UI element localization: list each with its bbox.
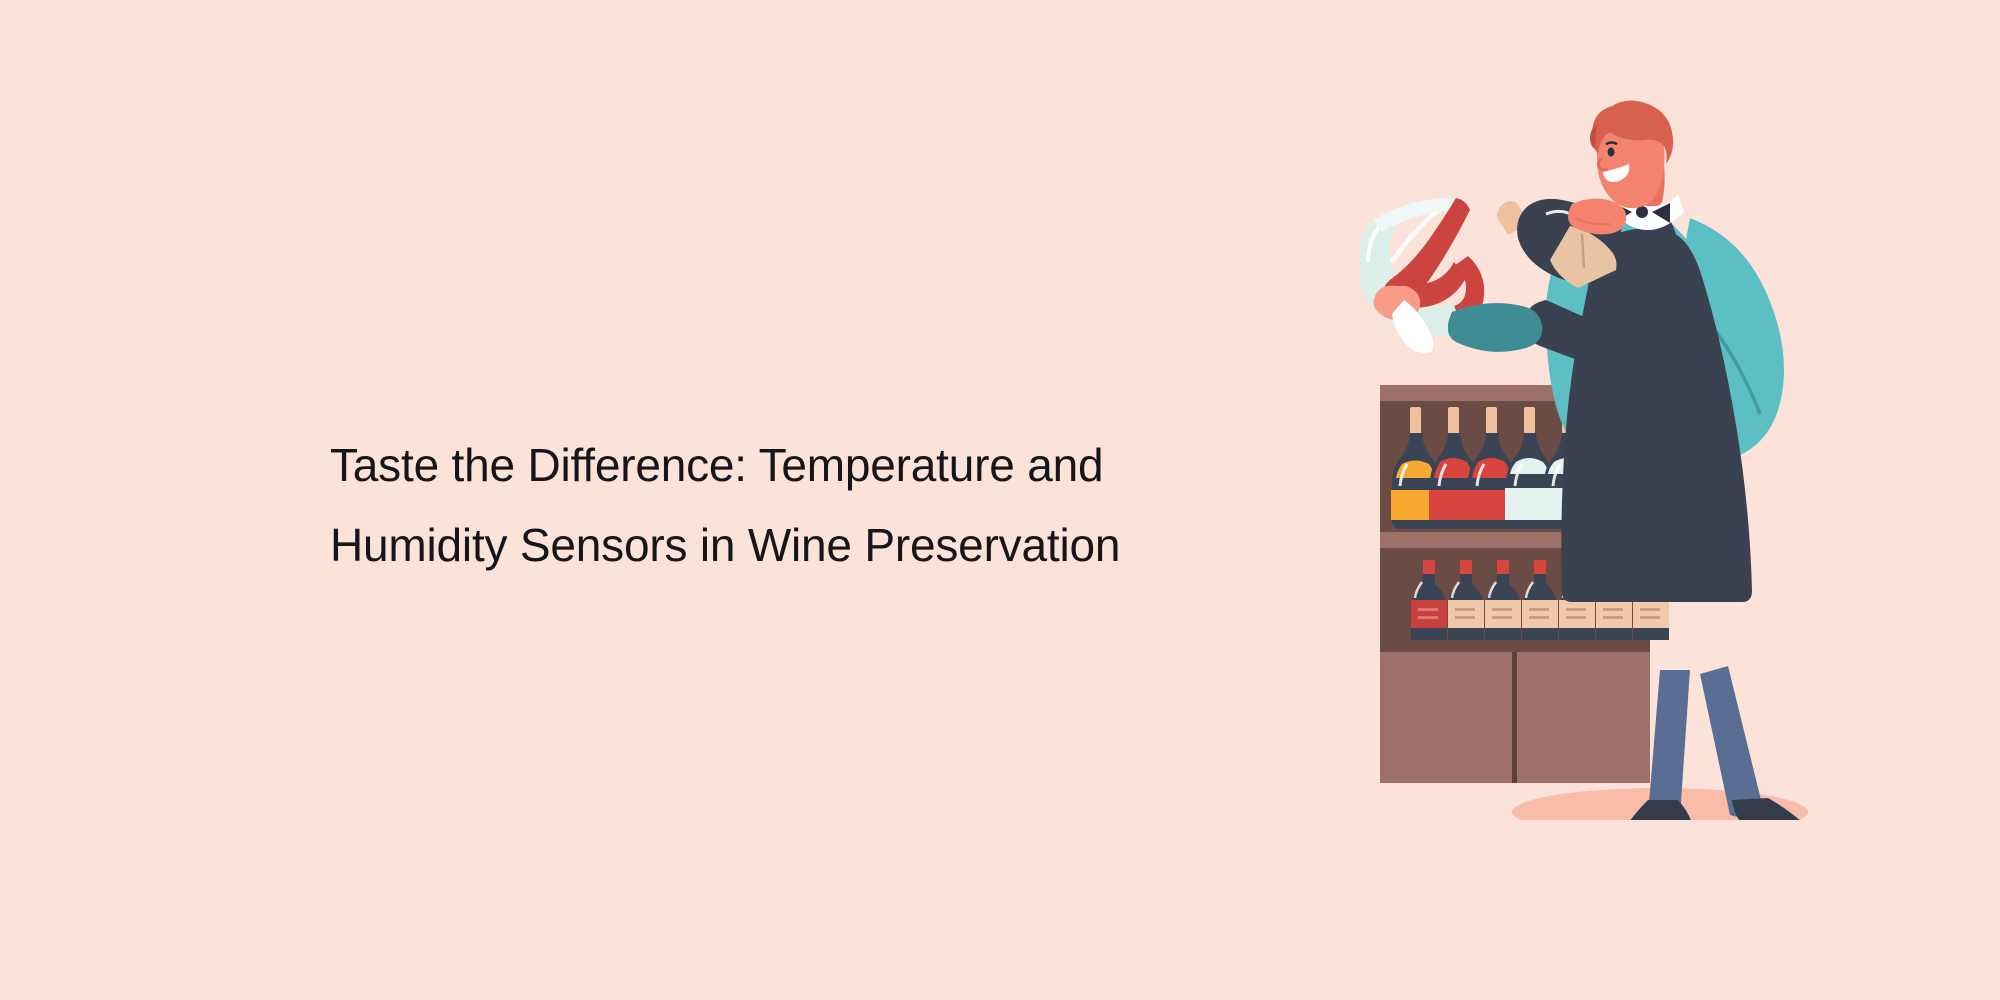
sommelier-illustration — [1360, 100, 1960, 820]
label-line — [1603, 608, 1623, 611]
bottle-cap — [1497, 560, 1509, 574]
bottle-label — [1411, 600, 1447, 628]
bottle-label — [1522, 600, 1558, 628]
label-line — [1640, 608, 1660, 611]
bottle-label — [1633, 600, 1669, 628]
label-line — [1492, 616, 1512, 619]
bottle-cap — [1460, 560, 1472, 574]
bow-tie-knot — [1636, 206, 1648, 218]
bottle-cork — [1524, 407, 1535, 435]
cabinet-door-divider — [1512, 650, 1517, 783]
sommelier-illustration-svg — [1360, 100, 1960, 820]
bottle-label — [1448, 600, 1484, 628]
bottle-cap — [1423, 560, 1435, 574]
label-line — [1492, 608, 1512, 611]
bottle-label — [1485, 600, 1521, 628]
page-title: Taste the Difference: Temperature and Hu… — [330, 425, 1310, 585]
label-line — [1529, 608, 1549, 611]
label-line — [1566, 608, 1586, 611]
label-line — [1418, 616, 1438, 619]
shirt-left-forearm — [1448, 303, 1542, 352]
cabinet-lower-shelf-edge — [1380, 646, 1650, 652]
label-line — [1455, 616, 1475, 619]
bottle-label — [1596, 600, 1632, 628]
bottle-label — [1559, 600, 1595, 628]
label-line — [1603, 616, 1623, 619]
hero-banner: Taste the Difference: Temperature and Hu… — [0, 0, 2000, 1000]
label-line — [1640, 616, 1660, 619]
bottle-cork — [1410, 407, 1421, 435]
label-line — [1566, 616, 1586, 619]
label-line — [1418, 608, 1438, 611]
bottle-cork — [1448, 407, 1459, 435]
eye — [1608, 148, 1615, 157]
bottle-cork — [1486, 407, 1497, 435]
label-line — [1455, 608, 1475, 611]
label-line — [1529, 616, 1549, 619]
bottle-cap — [1534, 560, 1546, 574]
